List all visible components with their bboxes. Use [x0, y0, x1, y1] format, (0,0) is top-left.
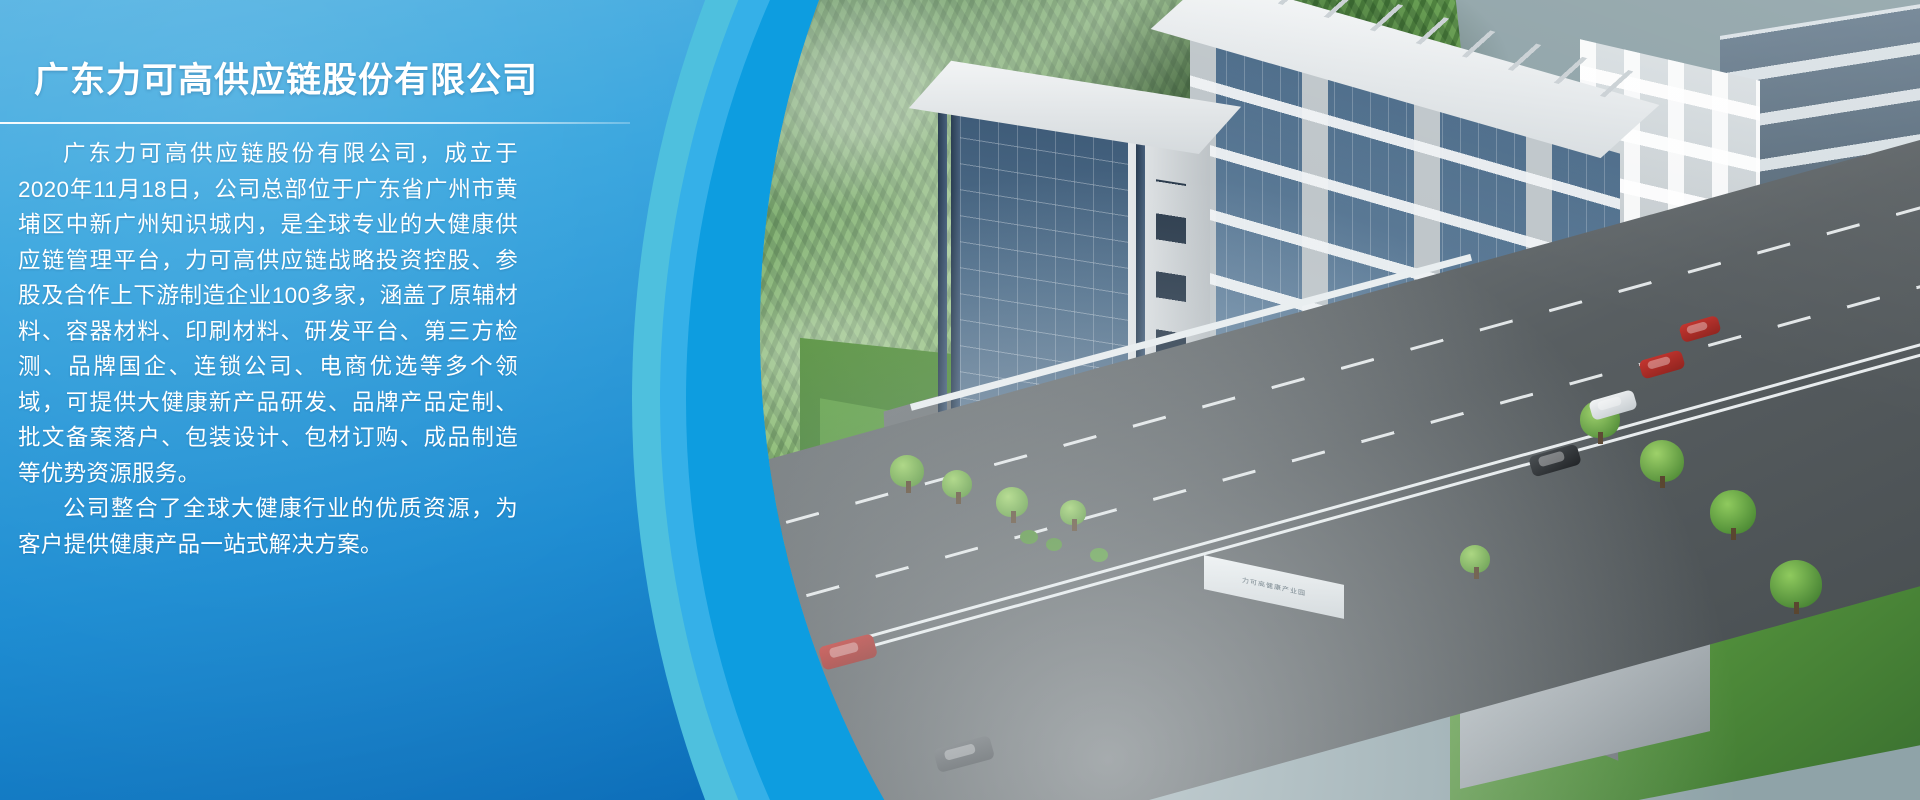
entrance-sign-text: 力可高健康产业园	[1242, 576, 1306, 599]
tree	[1770, 560, 1822, 608]
tree	[1460, 545, 1490, 573]
tree	[996, 487, 1028, 517]
shrub	[1020, 530, 1038, 544]
paragraph-2: 公司整合了全球大健康行业的优质资源，为客户提供健康产品一站式解决方案。	[18, 491, 518, 562]
campus-rendering-photo: 力可高健康产业园	[760, 0, 1920, 800]
company-description: 广东力可高供应链股份有限公司，成立于2020年11月18日，公司总部位于广东省广…	[18, 136, 518, 562]
shrub	[1046, 538, 1062, 551]
paragraph-1: 广东力可高供应链股份有限公司，成立于2020年11月18日，公司总部位于广东省广…	[18, 136, 518, 491]
tree	[1710, 490, 1756, 534]
text-column: 广东力可高供应链股份有限公司 广东力可高供应链股份有限公司，成立于2020年11…	[0, 0, 640, 800]
photo-circle-mask: 力可高健康产业园	[760, 0, 1920, 800]
tree	[890, 455, 924, 487]
banner-stage: 力可高健康产业园 广东力可高供应链股份有限公司	[0, 0, 1920, 800]
tree	[1060, 500, 1086, 525]
tree	[942, 470, 972, 498]
tree	[1640, 440, 1684, 482]
page-title: 广东力可高供应链股份有限公司	[34, 52, 538, 103]
shrub	[1090, 548, 1108, 562]
title-divider	[0, 122, 630, 124]
